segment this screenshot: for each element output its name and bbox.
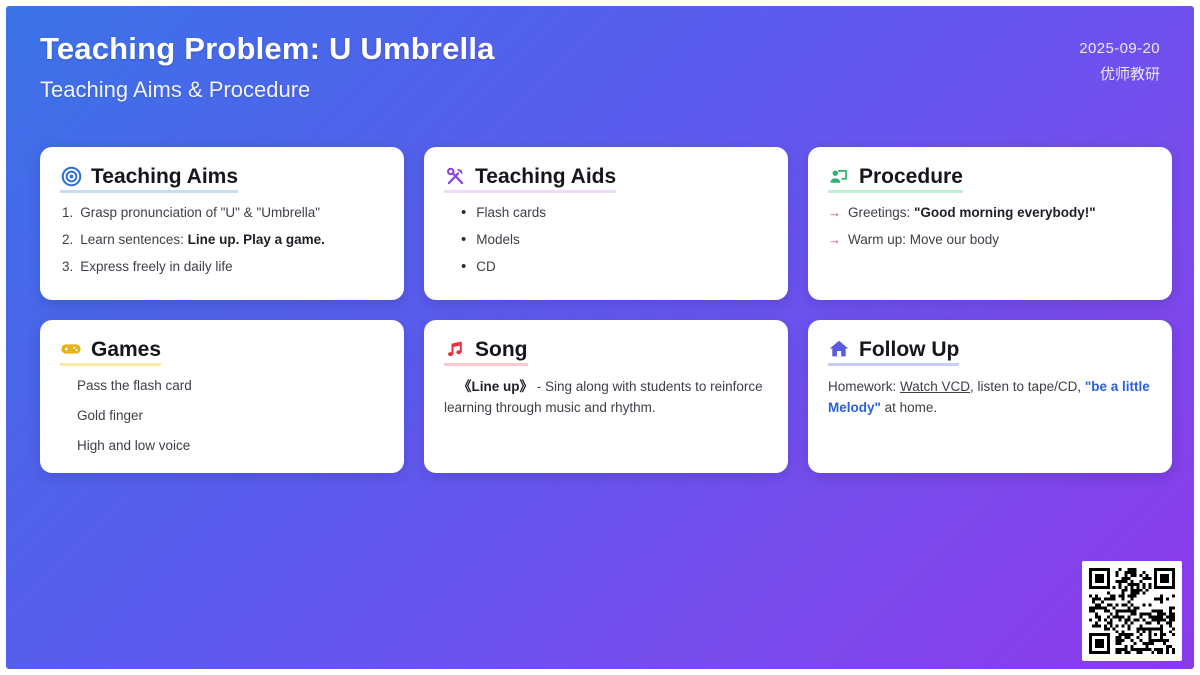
list-marker: 3. bbox=[62, 258, 73, 276]
list-item: • Flash cards bbox=[461, 204, 768, 222]
card-header: Song bbox=[444, 338, 528, 366]
list-text: Pass the flash card bbox=[77, 377, 192, 395]
procedure-list: → Greetings: "Good morning everybody!" →… bbox=[828, 204, 1152, 249]
page-subtitle: Teaching Aims & Procedure bbox=[40, 77, 1162, 103]
bullet-marker: • bbox=[461, 231, 466, 248]
list-item: 3. Express freely in daily life bbox=[62, 258, 384, 276]
teacher-presentation-icon bbox=[828, 165, 850, 187]
bullseye-target-icon bbox=[60, 165, 82, 187]
teaching-aids-list: • Flash cards • Models • CD bbox=[444, 204, 768, 277]
hammer-and-wrench-icon bbox=[444, 165, 466, 187]
follow-up-description: Homework: Watch VCD, listen to tape/CD, … bbox=[828, 377, 1152, 419]
homework-tail: at home. bbox=[881, 400, 937, 415]
cards-grid: Teaching Aims 1. Grasp pronunciation of … bbox=[40, 147, 1172, 473]
list-text: High and low voice bbox=[77, 437, 190, 455]
card-song[interactable]: Song 《Line up》 - Sing along with student… bbox=[424, 320, 788, 473]
list-item: 2. Learn sentences: Line up. Play a game… bbox=[62, 231, 384, 249]
list-item: → Warm up: Move our body bbox=[828, 231, 1152, 249]
teaching-aims-list: 1. Grasp pronunciation of "U" & "Umbrell… bbox=[60, 204, 384, 277]
arrow-right-icon: → bbox=[828, 204, 841, 222]
card-header: Games bbox=[60, 338, 161, 366]
song-title: 《Line up》 bbox=[458, 379, 533, 394]
list-text: Grasp pronunciation of "U" & "Umbrella" bbox=[80, 204, 320, 222]
list-text-bold: Line up. Play a game. bbox=[188, 232, 325, 247]
card-procedure[interactable]: Procedure → Greetings: "Good morning eve… bbox=[808, 147, 1172, 300]
card-title: Song bbox=[475, 339, 528, 360]
date-label: 2025-09-20 bbox=[1079, 40, 1160, 57]
card-games[interactable]: Games Pass the flash card Gold finger Hi… bbox=[40, 320, 404, 473]
card-teaching-aids[interactable]: Teaching Aids • Flash cards • Models • C… bbox=[424, 147, 788, 300]
list-text: Gold finger bbox=[77, 407, 143, 425]
slide-header: Teaching Problem: U Umbrella Teaching Ai… bbox=[6, 6, 1194, 134]
list-text: Warm up: Move our body bbox=[848, 231, 999, 249]
list-marker: 2. bbox=[62, 231, 73, 249]
card-header: Follow Up bbox=[828, 338, 959, 366]
watch-vcd-link[interactable]: Watch VCD bbox=[900, 379, 970, 394]
list-item: Gold finger bbox=[77, 407, 384, 425]
card-header: Teaching Aids bbox=[444, 165, 616, 193]
bullet-marker: • bbox=[461, 258, 466, 275]
homework-lead: Homework: bbox=[828, 379, 900, 394]
list-text: Models bbox=[476, 231, 520, 249]
list-text: Express freely in daily life bbox=[80, 258, 232, 276]
card-title: Follow Up bbox=[859, 339, 959, 360]
list-item: • CD bbox=[461, 258, 768, 276]
list-text: Flash cards bbox=[476, 204, 546, 222]
games-list: Pass the flash card Gold finger High and… bbox=[60, 377, 384, 456]
card-title: Teaching Aims bbox=[91, 166, 238, 187]
list-item: Pass the flash card bbox=[77, 377, 384, 395]
list-text-plain: Greetings: bbox=[848, 205, 914, 220]
list-text-bold: "Good morning everybody!" bbox=[914, 205, 1096, 220]
list-text: Learn sentences: Line up. Play a game. bbox=[80, 231, 325, 249]
gamepad-icon bbox=[60, 338, 82, 360]
list-item: 1. Grasp pronunciation of "U" & "Umbrell… bbox=[62, 204, 384, 222]
homework-middle: , listen to tape/CD, bbox=[970, 379, 1085, 394]
qr-code bbox=[1089, 568, 1175, 654]
slide-canvas: Teaching Problem: U Umbrella Teaching Ai… bbox=[6, 6, 1194, 669]
list-item: → Greetings: "Good morning everybody!" bbox=[828, 204, 1152, 222]
list-item: High and low voice bbox=[77, 437, 384, 455]
list-item: • Models bbox=[461, 231, 768, 249]
card-follow-up[interactable]: Follow Up Homework: Watch VCD, listen to… bbox=[808, 320, 1172, 473]
qr-code-container[interactable] bbox=[1082, 561, 1182, 661]
bullet-marker: • bbox=[461, 204, 466, 221]
header-meta: 2025-09-20 优师教研 bbox=[1079, 40, 1160, 84]
list-marker: 1. bbox=[62, 204, 73, 222]
list-text: CD bbox=[476, 258, 496, 276]
music-note-icon bbox=[444, 338, 466, 360]
card-header: Teaching Aims bbox=[60, 165, 238, 193]
slide-root: Teaching Problem: U Umbrella Teaching Ai… bbox=[0, 0, 1200, 675]
list-text-plain: Learn sentences: bbox=[80, 232, 187, 247]
list-text: Greetings: "Good morning everybody!" bbox=[848, 204, 1096, 222]
home-house-icon bbox=[828, 338, 850, 360]
song-description: 《Line up》 - Sing along with students to … bbox=[444, 377, 768, 419]
organization-label: 优师教研 bbox=[1079, 63, 1160, 84]
card-title: Games bbox=[91, 339, 161, 360]
card-header: Procedure bbox=[828, 165, 963, 193]
arrow-right-icon: → bbox=[828, 231, 841, 249]
card-title: Procedure bbox=[859, 166, 963, 187]
page-title: Teaching Problem: U Umbrella bbox=[40, 30, 1162, 69]
card-teaching-aims[interactable]: Teaching Aims 1. Grasp pronunciation of … bbox=[40, 147, 404, 300]
card-title: Teaching Aids bbox=[475, 166, 616, 187]
